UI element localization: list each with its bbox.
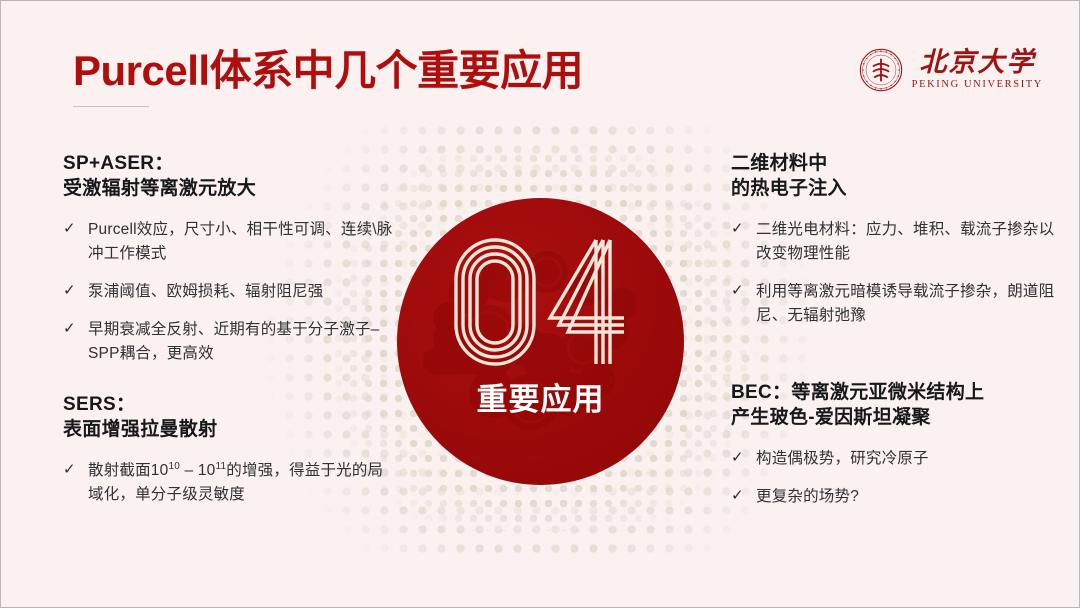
slide-root: Purcell体系中几个重要应用 bbox=[0, 0, 1080, 608]
bullet-text: 构造偶极势，研究冷原子 bbox=[756, 447, 929, 471]
bullet-list-sers: ✓ 散射截面1010 – 1011的增强，得益于光的局域化，单分子级灵敏度 bbox=[63, 459, 393, 507]
list-item: ✓ 泵浦阈值、欧姆损耗、辐射阻尼强 bbox=[63, 280, 393, 304]
bullet-list-sp-aser: ✓ Purcell效应，尺寸小、相干性可调、连续\脉冲工作模式 ✓ 泵浦阈值、欧… bbox=[63, 218, 393, 366]
list-item: ✓ 利用等离激元暗模诱导载流子掺杂，朗道阻尼、无辐射弛豫 bbox=[731, 280, 1061, 328]
bullet-text: 早期衰减全反射、近期有的基于分子激子–SPP耦合，更高效 bbox=[88, 318, 393, 366]
title-underline-rule bbox=[73, 106, 149, 107]
section-label: 重要应用 bbox=[397, 374, 684, 419]
check-icon: ✓ bbox=[63, 218, 77, 241]
page-title: Purcell体系中几个重要应用 bbox=[73, 37, 583, 98]
check-icon: ✓ bbox=[63, 280, 77, 303]
pku-seal-icon bbox=[859, 48, 903, 92]
section-number bbox=[397, 232, 684, 372]
pku-logo-text: 北京大学 PEKING UNIVERSITY bbox=[912, 49, 1043, 91]
check-icon: ✓ bbox=[63, 318, 77, 341]
section-heading-bec: BEC：等离激元亚微米结构上 产生玻色-爱因斯坦凝聚 bbox=[731, 380, 1061, 430]
list-item: ✓ 二维光电材料：应力、堆积、载流子掺杂以改变物理性能 bbox=[731, 218, 1061, 266]
check-icon: ✓ bbox=[731, 218, 745, 241]
list-item: ✓ Purcell效应，尺寸小、相干性可调、连续\脉冲工作模式 bbox=[63, 218, 393, 266]
bullet-text: 利用等离激元暗模诱导载流子掺杂，朗道阻尼、无辐射弛豫 bbox=[756, 280, 1061, 328]
section-heading-sp-aser: SP+ASER： 受激辐射等离激元放大 bbox=[63, 151, 393, 201]
pku-name-en: PEKING UNIVERSITY bbox=[912, 80, 1043, 91]
list-item: ✓ 更复杂的场势? bbox=[731, 485, 1061, 509]
right-column: 二维材料中 的热电子注入 ✓ 二维光电材料：应力、堆积、载流子掺杂以改变物理性能… bbox=[731, 151, 1061, 523]
bullet-text: Purcell效应，尺寸小、相干性可调、连续\脉冲工作模式 bbox=[88, 218, 393, 266]
pku-name-cn: 北京大学 bbox=[919, 49, 1035, 76]
check-icon: ✓ bbox=[731, 280, 745, 303]
bullet-text: 二维光电材料：应力、堆积、载流子掺杂以改变物理性能 bbox=[756, 218, 1061, 266]
bullet-list-2d-material: ✓ 二维光电材料：应力、堆积、载流子掺杂以改变物理性能 ✓ 利用等离激元暗模诱导… bbox=[731, 218, 1061, 328]
section-number-badge: 重要应用 bbox=[397, 198, 684, 485]
bullet-text: 泵浦阈值、欧姆损耗、辐射阻尼强 bbox=[88, 280, 324, 304]
bullet-text: 散射截面1010 – 1011的增强，得益于光的局域化，单分子级灵敏度 bbox=[88, 459, 393, 507]
list-item: ✓ 构造偶极势，研究冷原子 bbox=[731, 447, 1061, 471]
check-icon: ✓ bbox=[731, 447, 745, 470]
list-item: ✓ 早期衰减全反射、近期有的基于分子激子–SPP耦合，更高效 bbox=[63, 318, 393, 366]
list-item: ✓ 散射截面1010 – 1011的增强，得益于光的局域化，单分子级灵敏度 bbox=[63, 459, 393, 507]
check-icon: ✓ bbox=[731, 485, 745, 508]
bullet-text: 更复杂的场势? bbox=[756, 485, 859, 509]
bullet-list-bec: ✓ 构造偶极势，研究冷原子 ✓ 更复杂的场势? bbox=[731, 447, 1061, 509]
pku-logo: 北京大学 PEKING UNIVERSITY bbox=[859, 48, 1043, 92]
section-heading-2d-material: 二维材料中 的热电子注入 bbox=[731, 151, 1061, 201]
left-column: SP+ASER： 受激辐射等离激元放大 ✓ Purcell效应，尺寸小、相干性可… bbox=[63, 151, 393, 521]
section-heading-sers: SERS： 表面增强拉曼散射 bbox=[63, 392, 393, 442]
check-icon: ✓ bbox=[63, 459, 77, 482]
